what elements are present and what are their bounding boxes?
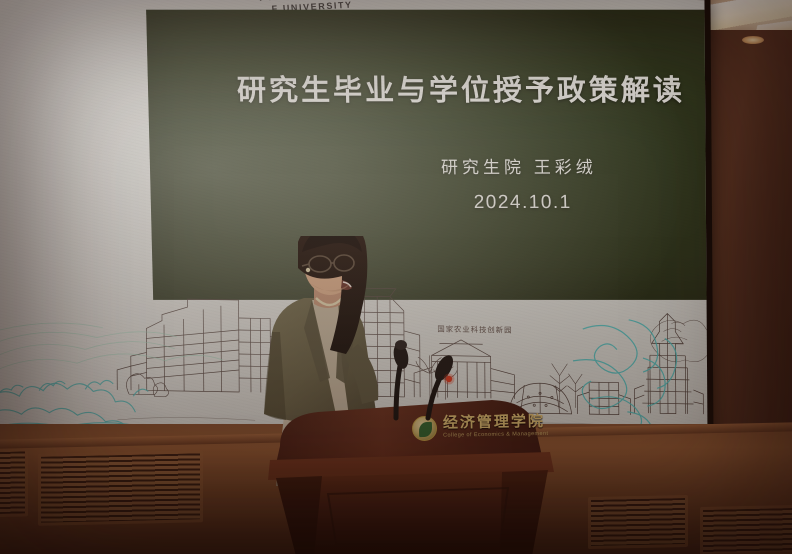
slide-presenter: 研究生院 王彩绒 <box>300 153 708 178</box>
microphone-group <box>380 322 470 422</box>
lecture-hall-photo: 西北农林科技大学 ...F UNIVERSITY 研究生毕业与学位授予政策解读 … <box>0 0 792 554</box>
air-vent-louver <box>588 495 688 549</box>
slide-title: 研究生毕业与学位授予政策解读 <box>186 72 708 111</box>
wave-ornament-right <box>573 307 704 440</box>
air-vent-louver <box>38 450 203 526</box>
slide-date: 2024.10.1 <box>307 192 708 214</box>
ceiling-downlight <box>742 36 764 44</box>
wave-ornament-left <box>0 314 224 438</box>
air-vent-louver <box>700 505 792 554</box>
slide-title-panel: 研究生毕业与学位授予政策解读 研究生院 王彩绒 2024.10.1 <box>146 10 707 300</box>
podium-org-en: College of Economics & Management <box>443 432 548 440</box>
air-vent-louver <box>0 448 28 517</box>
